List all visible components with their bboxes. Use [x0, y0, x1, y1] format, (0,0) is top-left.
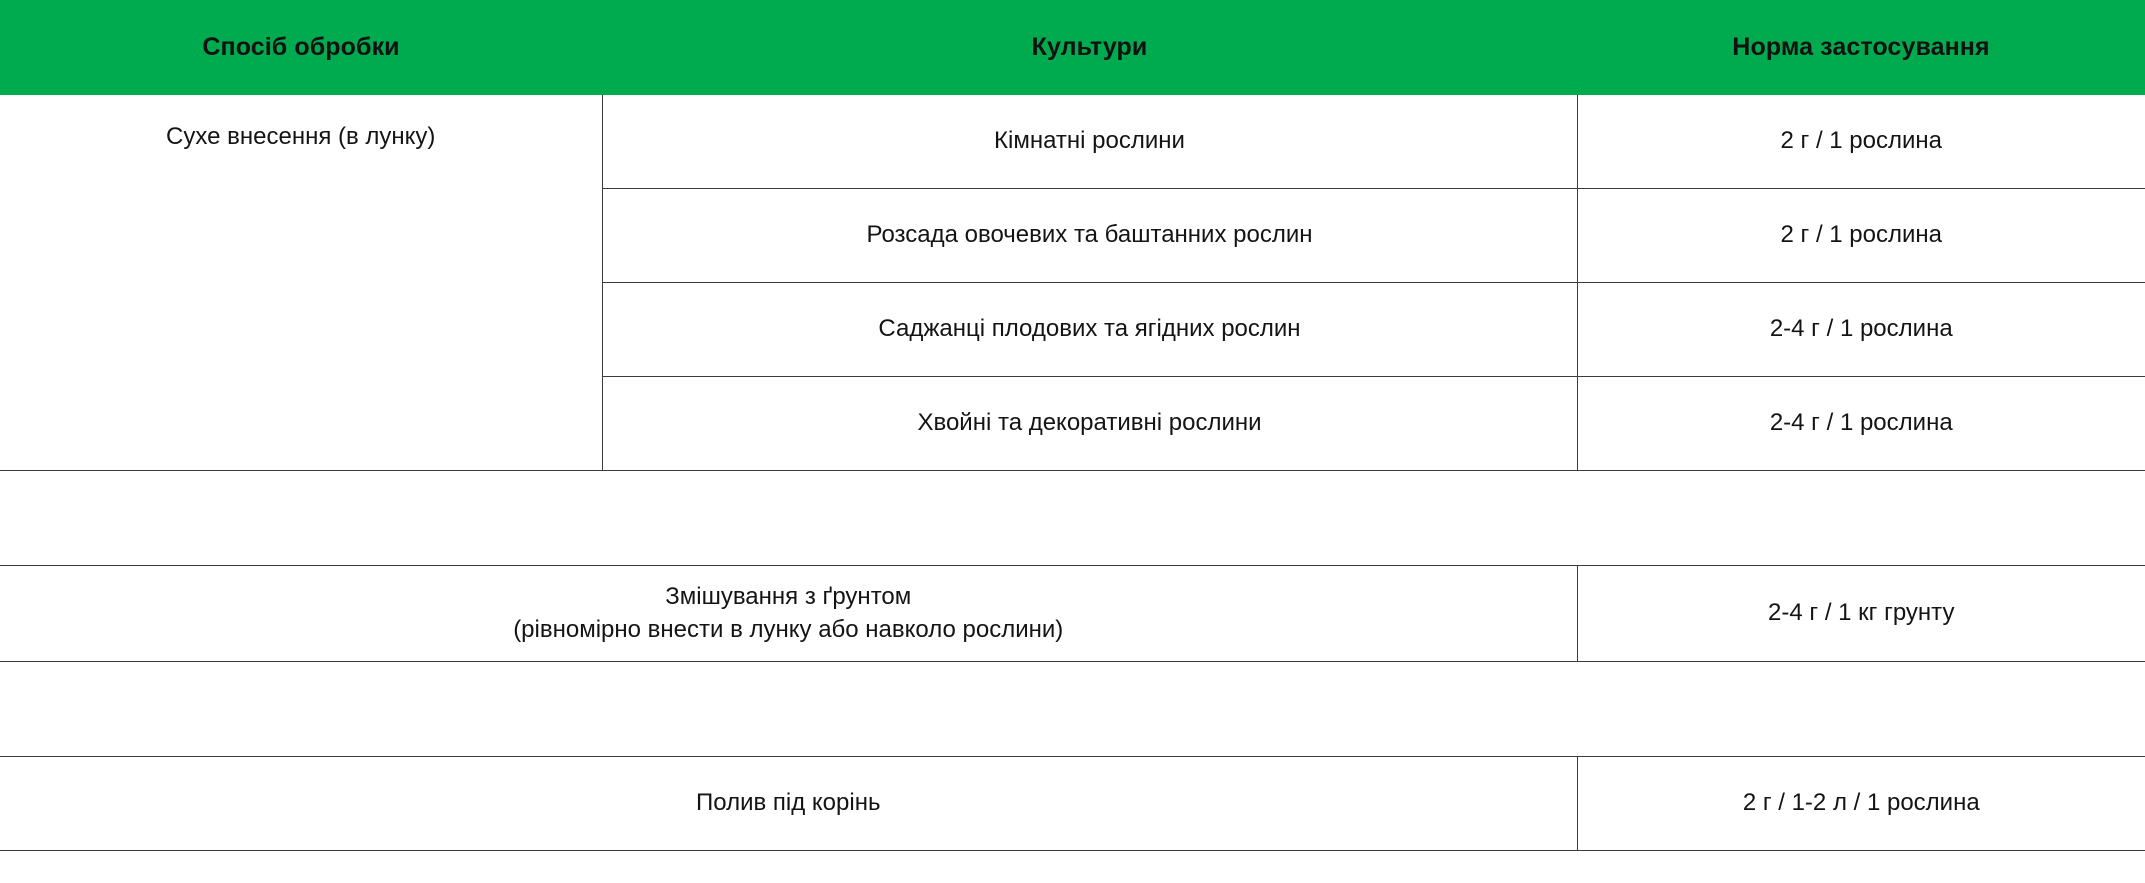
method-cell-dry-application: Сухе внесення (в лунку) — [0, 95, 602, 471]
header-row: Спосіб обробки Культури Норма застосуван… — [0, 0, 2145, 95]
method-cell-root-watering: Полив під корінь — [0, 757, 1577, 851]
table-row: Сухе внесення (в лунку) Кімнатні рослини… — [0, 95, 2145, 189]
rate-cell-soil-mixing: 2-4 г / 1 кг грунту — [1577, 566, 2145, 662]
culture-cell-indoor-plants: Кімнатні рослини — [602, 95, 1577, 189]
table-row: Полив під корінь 2 г / 1-2 л / 1 рослина — [0, 757, 2145, 851]
rate-cell-vegetable-seedlings: 2 г / 1 рослина — [1577, 189, 2145, 283]
soil-mixing-note: (рівномірно внести в лунку або навколо р… — [14, 614, 1563, 647]
rate-cell-indoor-plants: 2 г / 1 рослина — [1577, 95, 2145, 189]
culture-cell-vegetable-seedlings: Розсада овочевих та баштанних рослин — [602, 189, 1577, 283]
rate-cell-fruit-saplings: 2-4 г / 1 рослина — [1577, 283, 2145, 377]
section-spacer-row — [0, 471, 2145, 566]
culture-cell-fruit-saplings: Саджанці плодових та ягідних рослин — [602, 283, 1577, 377]
table-head: Спосіб обробки Культури Норма застосуван… — [0, 0, 2145, 95]
method-cell-soil-mixing: Змішування з ґрунтом (рівномірно внести … — [0, 566, 1577, 662]
column-header-culture: Культури — [602, 0, 1577, 95]
column-header-method: Спосіб обробки — [0, 0, 602, 95]
rate-cell-conifers-ornamentals: 2-4 г / 1 рослина — [1577, 377, 2145, 471]
norms-table-sheet: Спосіб обробки Культури Норма застосуван… — [0, 0, 2145, 883]
section-spacer-cell — [0, 662, 2145, 757]
culture-cell-conifers-ornamentals: Хвойні та декоративні рослини — [602, 377, 1577, 471]
section-spacer-row — [0, 662, 2145, 757]
section-spacer-cell — [0, 471, 2145, 566]
rate-cell-root-watering: 2 г / 1-2 л / 1 рослина — [1577, 757, 2145, 851]
table-row: Змішування з ґрунтом (рівномірно внести … — [0, 566, 2145, 662]
table-body: Сухе внесення (в лунку) Кімнатні рослини… — [0, 95, 2145, 851]
soil-mixing-title: Змішування з ґрунтом — [14, 581, 1563, 614]
application-norms-table: Спосіб обробки Культури Норма застосуван… — [0, 0, 2145, 851]
column-header-rate: Норма застосування — [1577, 0, 2145, 95]
